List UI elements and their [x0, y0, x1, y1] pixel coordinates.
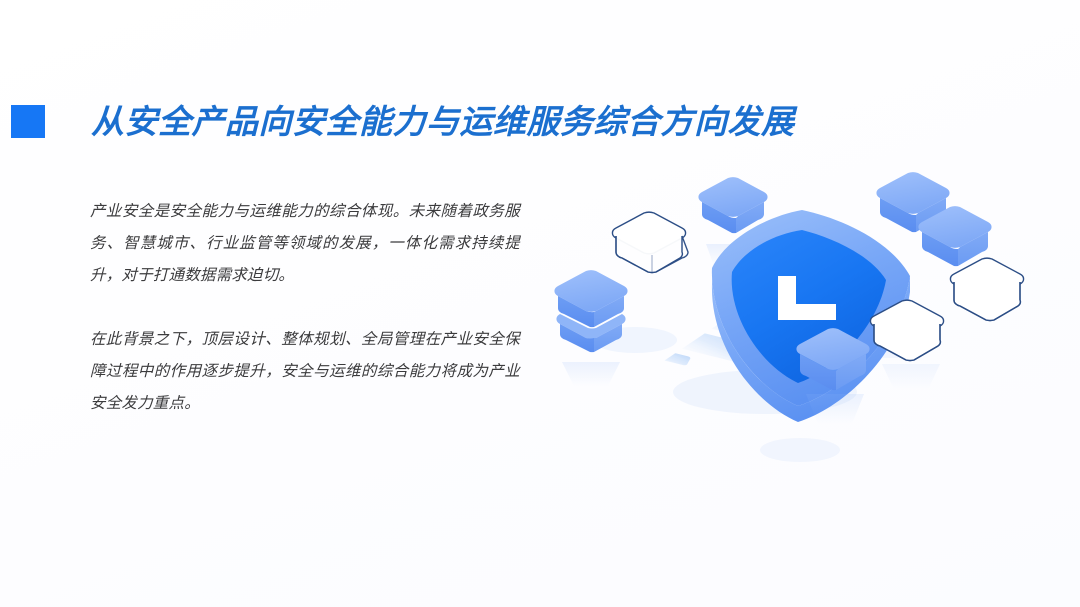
- cube-left-lower-stacked-icon: [554, 270, 627, 352]
- cube-right-wireframe-icon: [950, 258, 1023, 320]
- slide-canvas: 从安全产品向安全能力与运维服务综合方向发展 产业安全是安全能力与运维能力的综合体…: [0, 0, 1080, 607]
- cube-left-top-filled-icon: [698, 177, 767, 233]
- slide-header: 从安全产品向安全能力与运维服务综合方向发展: [0, 96, 1040, 146]
- paragraph-2: 在此背景之下，顶层设计、整体规划、全局管理在产业安全保障过程中的作用逐步提升，安…: [90, 324, 520, 420]
- page-title: 从安全产品向安全能力与运维服务综合方向发展: [91, 105, 795, 138]
- body-copy: 产业安全是安全能力与运维能力的综合体现。未来随着政务服务、智慧城市、行业监管等领…: [90, 196, 520, 420]
- security-shield-illustration: [470, 140, 1070, 570]
- title-accent-marker: [11, 105, 45, 138]
- paragraph-1: 产业安全是安全能力与运维能力的综合体现。未来随着政务服务、智慧城市、行业监管等领…: [90, 196, 520, 292]
- cube-left-mid-wireframe-icon: [612, 212, 688, 273]
